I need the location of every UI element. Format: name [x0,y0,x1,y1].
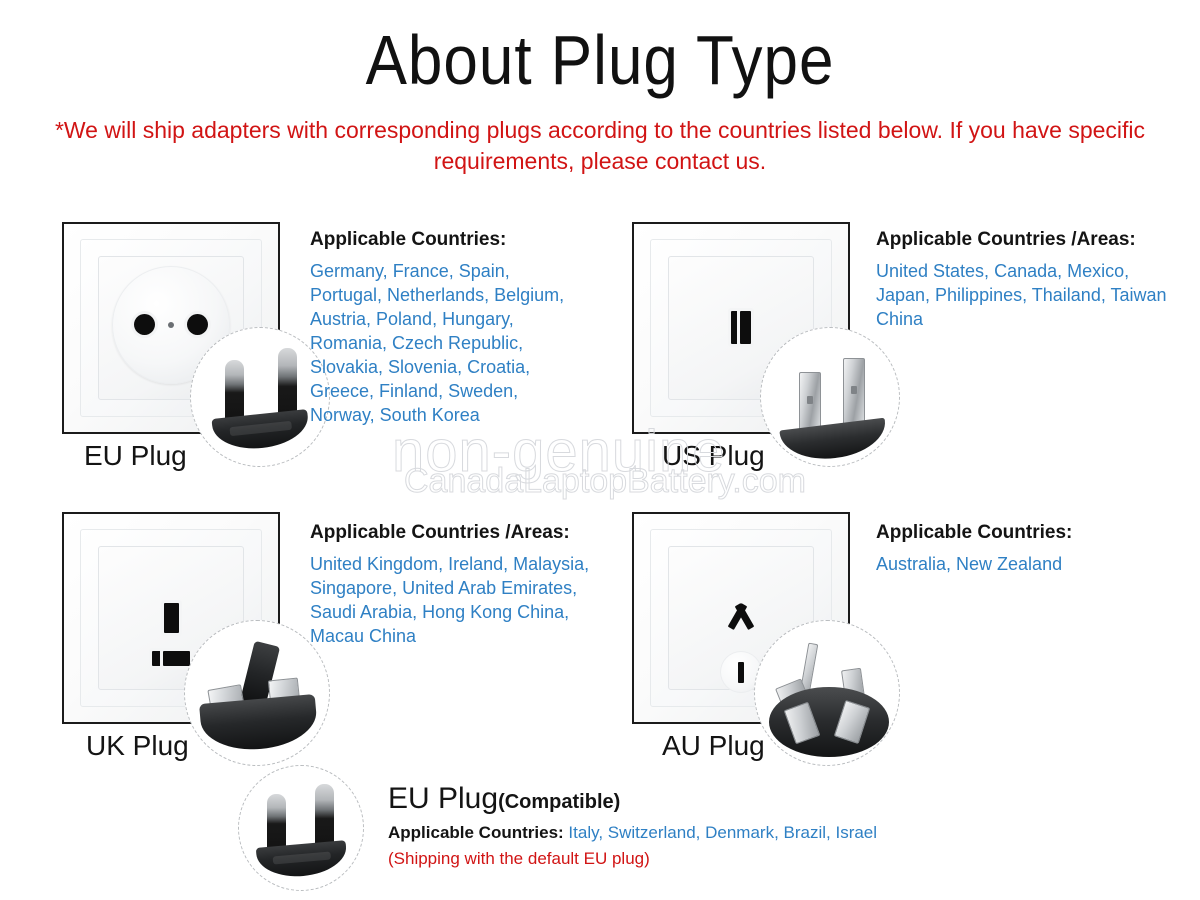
plug-label-au: AU Plug [662,730,765,762]
country-block-uk: Applicable Countries /Areas: United King… [310,520,610,648]
shipping-note: *We will ship adapters with correspondin… [50,115,1150,177]
page-title: About Plug Type [0,20,1200,103]
applicable-heading-au: Applicable Countries: [876,520,1176,546]
applicable-heading-eu: Applicable Countries: [310,227,580,253]
au-socket-illustration [632,512,850,724]
compatible-countries-line: Applicable Countries: Italy, Switzerland… [388,822,877,844]
au-plug-inset [754,620,900,766]
plug-card-eu: EU Plug [62,222,280,434]
us-plug-inset [760,327,900,467]
eu-plug-body [256,840,348,880]
applicable-countries-eu: Germany, France, Spain, Portugal, Nether… [310,259,580,427]
compatible-title-suffix: (Compatible) [498,791,620,813]
applicable-countries-uk: United Kingdom, Ireland, Malaysia, Singa… [310,552,610,648]
plug-type-infographic: About Plug Type *We will ship adapters w… [0,0,1200,900]
compatible-title: EU Plug(Compatible) [388,782,620,816]
uk-slot-right [163,651,190,666]
country-block-au: Applicable Countries: Australia, New Zea… [876,520,1176,576]
uk-plug-body [199,694,319,754]
plug-card-uk: UK Plug [62,512,280,724]
uk-plug-inset [184,620,330,766]
compatible-shipping-note: (Shipping with the default EU plug) [388,848,650,870]
us-plug-blade-left [799,372,821,434]
applicable-countries-us: United States, Canada, Mexico, Japan, Ph… [876,259,1176,331]
eu-pin-hole-right [187,314,208,335]
us-plug-blade-right [843,358,865,430]
country-block-us: Applicable Countries /Areas: United Stat… [876,227,1176,331]
us-plug-body [779,418,888,465]
compatible-countries: Italy, Switzerland, Denmark, Brazil, Isr… [568,823,877,842]
plug-label-uk: UK Plug [86,730,189,762]
us-socket-illustration [632,222,850,434]
eu-compatible-plug-inset [238,765,364,891]
eu-pin-hole-left [134,314,155,335]
us-slot-right [740,311,751,344]
applicable-countries-au: Australia, New Zealand [876,552,1176,576]
compatible-title-main: EU Plug [388,782,498,815]
plug-card-au: AU Plug [632,512,850,724]
plug-card-us: US Plug [632,222,850,434]
plug-label-us: US Plug [662,440,765,472]
compatible-heading: Applicable Countries: [388,823,564,842]
eu-center-screw [168,322,174,328]
country-block-eu: Applicable Countries: Germany, France, S… [310,227,580,427]
applicable-heading-uk: Applicable Countries /Areas: [310,520,610,546]
uk-socket-illustration [62,512,280,724]
eu-socket-illustration [62,222,280,434]
eu-plug-inset [190,327,330,467]
applicable-heading-us: Applicable Countries /Areas: [876,227,1176,253]
plug-label-eu: EU Plug [84,440,187,472]
uk-slot-earth [164,603,179,633]
